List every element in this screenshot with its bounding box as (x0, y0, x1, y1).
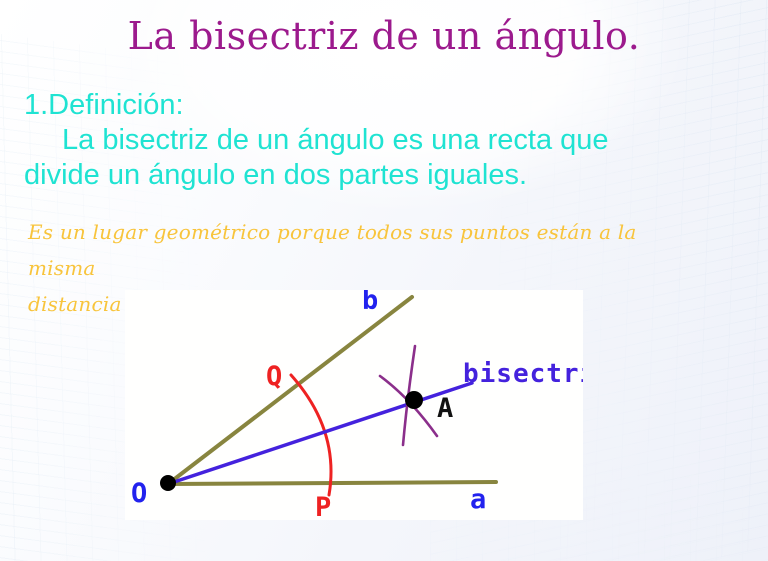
slide-canvas: La bisectriz de un ángulo. 1.Definición:… (0, 0, 768, 561)
definition-block: 1.Definición: La bisectriz de un ángulo … (24, 88, 644, 193)
diagram-svg: O b a Q P A bisectriz (125, 290, 583, 520)
bisector-line (168, 383, 472, 484)
label-vertex-o: O (131, 478, 147, 509)
label-ray-a: a (470, 484, 486, 515)
label-arc-point-q: Q (266, 361, 282, 392)
label-bisectriz: bisectriz (463, 359, 583, 389)
label-ray-b: b (362, 290, 378, 316)
label-arc-point-p: P (315, 492, 331, 520)
note-line-1: Es un lugar geométrico porque todos sus … (28, 214, 678, 286)
definition-heading: 1.Definición: (24, 88, 644, 123)
ray-b-line (168, 297, 412, 484)
point-o (160, 475, 176, 491)
angle-bisector-diagram: O b a Q P A bisectriz (125, 290, 583, 520)
page-title: La bisectriz de un ángulo. (0, 14, 768, 58)
point-a (405, 391, 423, 409)
label-point-a: A (437, 393, 453, 424)
definition-body: La bisectriz de un ángulo es una recta q… (24, 123, 644, 193)
